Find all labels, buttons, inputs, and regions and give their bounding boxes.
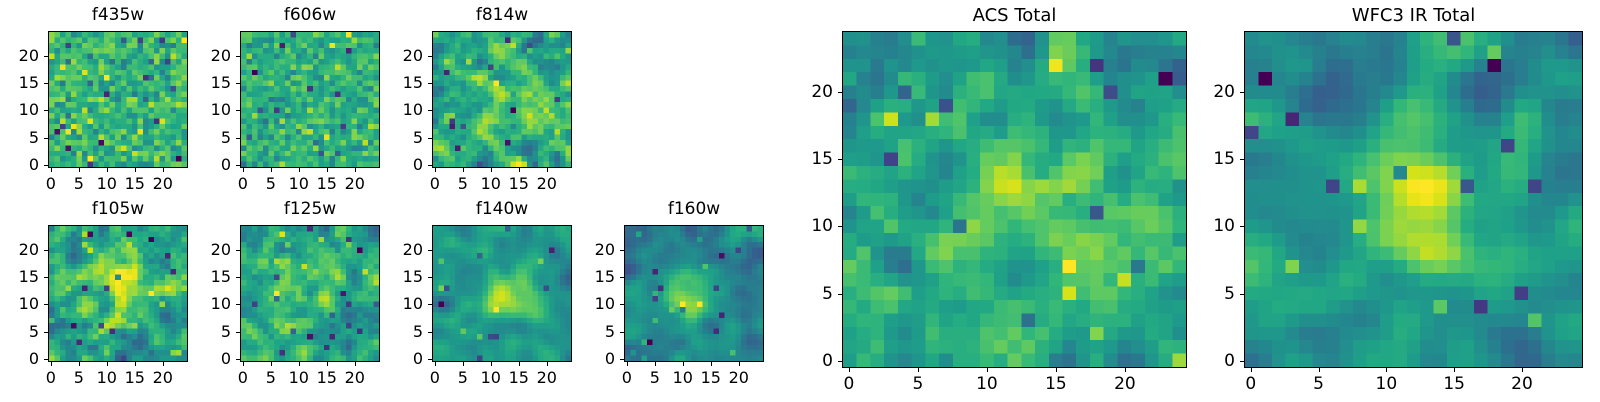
y-ticklabel-f435w-5: 5 <box>0 130 39 146</box>
y-tick-f140w-10 <box>428 304 432 305</box>
y-ticklabel-acs-total-20: 20 <box>762 84 833 100</box>
y-ticklabel-f606w-0: 0 <box>160 157 231 173</box>
x-tick-f125w-10 <box>299 362 300 366</box>
x-tick-f435w-0 <box>51 168 52 172</box>
y-tick-f160w-0 <box>620 359 624 360</box>
y-ticklabel-acs-total-5: 5 <box>762 286 833 302</box>
y-tick-wfc3-ir-total-20 <box>1240 92 1244 93</box>
y-ticklabel-f105w-0: 0 <box>0 351 39 367</box>
y-tick-f125w-10 <box>236 304 240 305</box>
y-tick-f814w-20 <box>428 56 432 57</box>
x-tick-f606w-0 <box>243 168 244 172</box>
y-ticklabel-f160w-5: 5 <box>544 324 615 340</box>
x-tick-f105w-15 <box>135 362 136 366</box>
y-ticklabel-wfc3-ir-total-15: 15 <box>1164 151 1235 167</box>
x-tick-wfc3-ir-total-15 <box>1454 368 1455 372</box>
panel-wfc3-ir-total: WFC3 IR Total0510152005101520 <box>1164 5 1600 402</box>
x-tick-f160w-5 <box>655 362 656 366</box>
y-tick-f140w-15 <box>428 277 432 278</box>
y-tick-wfc3-ir-total-0 <box>1240 361 1244 362</box>
x-tick-f160w-0 <box>627 362 628 366</box>
x-ticklabel-f140w-15: 15 <box>509 370 529 386</box>
y-tick-wfc3-ir-total-15 <box>1240 159 1244 160</box>
y-tick-f814w-5 <box>428 138 432 139</box>
x-tick-wfc3-ir-total-20 <box>1522 368 1523 372</box>
y-tick-f435w-10 <box>44 110 48 111</box>
x-tick-f160w-20 <box>739 362 740 366</box>
y-tick-f435w-20 <box>44 56 48 57</box>
panel-title-wfc3-ir-total: WFC3 IR Total <box>1164 7 1600 24</box>
y-ticklabel-f160w-20: 20 <box>544 242 615 258</box>
y-ticklabel-f160w-10: 10 <box>544 296 615 312</box>
heatmap-image-f160w <box>625 226 763 361</box>
x-tick-acs-total-0 <box>849 368 850 372</box>
x-tick-f125w-5 <box>271 362 272 366</box>
figure-canvas: f435w0510152005101520f606w05101520051015… <box>0 0 1600 400</box>
y-ticklabel-f140w-0: 0 <box>352 351 423 367</box>
panel-title-f814w: f814w <box>352 7 652 24</box>
y-tick-f105w-20 <box>44 250 48 251</box>
y-ticklabel-f435w-20: 20 <box>0 48 39 64</box>
y-tick-acs-total-20 <box>838 92 842 93</box>
x-ticklabel-f435w-10: 10 <box>97 176 117 192</box>
x-ticklabel-f125w-5: 5 <box>266 370 276 386</box>
y-tick-wfc3-ir-total-5 <box>1240 294 1244 295</box>
x-ticklabel-acs-total-0: 0 <box>843 376 854 392</box>
y-tick-f140w-5 <box>428 332 432 333</box>
y-tick-f160w-15 <box>620 277 624 278</box>
x-ticklabel-f606w-5: 5 <box>266 176 276 192</box>
x-ticklabel-f814w-10: 10 <box>481 176 501 192</box>
y-ticklabel-f606w-15: 15 <box>160 75 231 91</box>
heatmap-image-f814w <box>433 32 571 167</box>
y-tick-f140w-20 <box>428 250 432 251</box>
y-tick-f435w-15 <box>44 83 48 84</box>
x-ticklabel-f814w-0: 0 <box>430 176 440 192</box>
x-ticklabel-f160w-20: 20 <box>729 370 749 386</box>
y-ticklabel-f435w-0: 0 <box>0 157 39 173</box>
x-ticklabel-f125w-15: 15 <box>317 370 337 386</box>
x-ticklabel-f435w-5: 5 <box>74 176 84 192</box>
y-ticklabel-acs-total-15: 15 <box>762 151 833 167</box>
heatmap-axes-wfc3-ir-total <box>1244 31 1583 368</box>
x-ticklabel-f606w-0: 0 <box>238 176 248 192</box>
y-ticklabel-f814w-20: 20 <box>352 48 423 64</box>
x-ticklabel-wfc3-ir-total-10: 10 <box>1376 376 1398 392</box>
y-ticklabel-f606w-5: 5 <box>160 130 231 146</box>
y-ticklabel-f140w-15: 15 <box>352 269 423 285</box>
x-ticklabel-wfc3-ir-total-5: 5 <box>1313 376 1324 392</box>
x-ticklabel-f160w-5: 5 <box>650 370 660 386</box>
y-tick-f814w-10 <box>428 110 432 111</box>
x-tick-acs-total-5 <box>918 368 919 372</box>
y-ticklabel-f814w-0: 0 <box>352 157 423 173</box>
y-tick-f105w-10 <box>44 304 48 305</box>
y-ticklabel-f125w-15: 15 <box>160 269 231 285</box>
x-ticklabel-wfc3-ir-total-0: 0 <box>1245 376 1256 392</box>
x-tick-wfc3-ir-total-10 <box>1386 368 1387 372</box>
x-tick-f814w-20 <box>547 168 548 172</box>
x-tick-acs-total-20 <box>1125 368 1126 372</box>
y-ticklabel-f606w-20: 20 <box>160 48 231 64</box>
x-ticklabel-acs-total-15: 15 <box>1045 376 1067 392</box>
heatmap-image-wfc3-ir-total <box>1245 32 1582 367</box>
y-tick-f160w-10 <box>620 304 624 305</box>
x-ticklabel-f160w-0: 0 <box>622 370 632 386</box>
x-tick-f105w-5 <box>79 362 80 366</box>
y-tick-f606w-5 <box>236 138 240 139</box>
x-tick-f125w-15 <box>327 362 328 366</box>
x-tick-f140w-15 <box>519 362 520 366</box>
x-ticklabel-f105w-5: 5 <box>74 370 84 386</box>
y-tick-f606w-15 <box>236 83 240 84</box>
x-tick-f814w-0 <box>435 168 436 172</box>
y-tick-acs-total-5 <box>838 294 842 295</box>
x-ticklabel-f435w-0: 0 <box>46 176 56 192</box>
x-ticklabel-f160w-15: 15 <box>701 370 721 386</box>
y-tick-f125w-20 <box>236 250 240 251</box>
y-tick-f125w-5 <box>236 332 240 333</box>
x-ticklabel-f140w-5: 5 <box>458 370 468 386</box>
x-ticklabel-f105w-0: 0 <box>46 370 56 386</box>
x-tick-f160w-10 <box>683 362 684 366</box>
x-tick-f140w-5 <box>463 362 464 366</box>
y-tick-f160w-5 <box>620 332 624 333</box>
y-ticklabel-f435w-10: 10 <box>0 102 39 118</box>
x-ticklabel-f140w-0: 0 <box>430 370 440 386</box>
heatmap-axes-f814w <box>432 31 572 168</box>
y-ticklabel-f125w-0: 0 <box>160 351 231 367</box>
x-tick-wfc3-ir-total-0 <box>1251 368 1252 372</box>
y-tick-f160w-20 <box>620 250 624 251</box>
y-ticklabel-acs-total-0: 0 <box>762 353 833 369</box>
x-tick-f140w-0 <box>435 362 436 366</box>
heatmap-axes-acs-total <box>842 31 1187 368</box>
y-ticklabel-wfc3-ir-total-20: 20 <box>1164 84 1235 100</box>
y-ticklabel-f606w-10: 10 <box>160 102 231 118</box>
x-ticklabel-f814w-5: 5 <box>458 176 468 192</box>
x-tick-f125w-0 <box>243 362 244 366</box>
x-ticklabel-acs-total-5: 5 <box>912 376 923 392</box>
x-tick-f140w-10 <box>491 362 492 366</box>
x-tick-f435w-5 <box>79 168 80 172</box>
y-ticklabel-f814w-10: 10 <box>352 102 423 118</box>
heatmap-image-acs-total <box>843 32 1186 367</box>
x-ticklabel-acs-total-20: 20 <box>1114 376 1136 392</box>
x-ticklabel-f125w-10: 10 <box>289 370 309 386</box>
y-tick-f105w-15 <box>44 277 48 278</box>
x-tick-f435w-10 <box>107 168 108 172</box>
y-tick-f140w-0 <box>428 359 432 360</box>
y-ticklabel-f160w-15: 15 <box>544 269 615 285</box>
y-ticklabel-f814w-15: 15 <box>352 75 423 91</box>
y-tick-f125w-0 <box>236 359 240 360</box>
x-ticklabel-wfc3-ir-total-20: 20 <box>1511 376 1533 392</box>
x-tick-f814w-5 <box>463 168 464 172</box>
y-ticklabel-f105w-20: 20 <box>0 242 39 258</box>
y-tick-f814w-15 <box>428 83 432 84</box>
y-ticklabel-wfc3-ir-total-10: 10 <box>1164 218 1235 234</box>
y-tick-f435w-5 <box>44 138 48 139</box>
y-tick-f105w-5 <box>44 332 48 333</box>
x-ticklabel-f435w-15: 15 <box>125 176 145 192</box>
x-tick-f105w-10 <box>107 362 108 366</box>
y-ticklabel-f125w-20: 20 <box>160 242 231 258</box>
x-ticklabel-f125w-0: 0 <box>238 370 248 386</box>
x-tick-f160w-15 <box>711 362 712 366</box>
x-tick-f814w-15 <box>519 168 520 172</box>
y-tick-acs-total-15 <box>838 159 842 160</box>
y-ticklabel-f140w-20: 20 <box>352 242 423 258</box>
y-ticklabel-f435w-15: 15 <box>0 75 39 91</box>
y-ticklabel-f160w-0: 0 <box>544 351 615 367</box>
y-tick-f125w-15 <box>236 277 240 278</box>
x-ticklabel-f105w-10: 10 <box>97 370 117 386</box>
x-tick-f814w-10 <box>491 168 492 172</box>
x-tick-f606w-5 <box>271 168 272 172</box>
y-tick-f606w-0 <box>236 165 240 166</box>
y-tick-f606w-10 <box>236 110 240 111</box>
y-ticklabel-f140w-10: 10 <box>352 296 423 312</box>
x-tick-acs-total-10 <box>987 368 988 372</box>
y-ticklabel-f140w-5: 5 <box>352 324 423 340</box>
x-ticklabel-f606w-15: 15 <box>317 176 337 192</box>
x-tick-acs-total-15 <box>1056 368 1057 372</box>
x-ticklabel-f105w-15: 15 <box>125 370 145 386</box>
x-tick-f105w-0 <box>51 362 52 366</box>
y-ticklabel-f814w-5: 5 <box>352 130 423 146</box>
y-ticklabel-f105w-15: 15 <box>0 269 39 285</box>
y-ticklabel-wfc3-ir-total-5: 5 <box>1164 286 1235 302</box>
x-ticklabel-wfc3-ir-total-15: 15 <box>1443 376 1465 392</box>
y-ticklabel-wfc3-ir-total-0: 0 <box>1164 353 1235 369</box>
y-ticklabel-f105w-5: 5 <box>0 324 39 340</box>
x-tick-f606w-10 <box>299 168 300 172</box>
x-ticklabel-f606w-10: 10 <box>289 176 309 192</box>
y-tick-acs-total-10 <box>838 226 842 227</box>
y-tick-wfc3-ir-total-10 <box>1240 226 1244 227</box>
y-ticklabel-f105w-10: 10 <box>0 296 39 312</box>
y-ticklabel-f125w-5: 5 <box>160 324 231 340</box>
x-ticklabel-f140w-10: 10 <box>481 370 501 386</box>
y-tick-f814w-0 <box>428 165 432 166</box>
x-tick-f606w-15 <box>327 168 328 172</box>
x-tick-f435w-15 <box>135 168 136 172</box>
heatmap-axes-f160w <box>624 225 764 362</box>
x-ticklabel-f160w-10: 10 <box>673 370 693 386</box>
y-tick-f606w-20 <box>236 56 240 57</box>
y-ticklabel-f125w-10: 10 <box>160 296 231 312</box>
y-tick-f105w-0 <box>44 359 48 360</box>
x-ticklabel-acs-total-10: 10 <box>976 376 998 392</box>
panel-f814w: f814w0510152005101520 <box>352 5 652 202</box>
x-tick-wfc3-ir-total-5 <box>1319 368 1320 372</box>
x-ticklabel-f814w-15: 15 <box>509 176 529 192</box>
x-ticklabel-f814w-20: 20 <box>537 176 557 192</box>
y-ticklabel-acs-total-10: 10 <box>762 218 833 234</box>
y-tick-acs-total-0 <box>838 361 842 362</box>
y-tick-f435w-0 <box>44 165 48 166</box>
